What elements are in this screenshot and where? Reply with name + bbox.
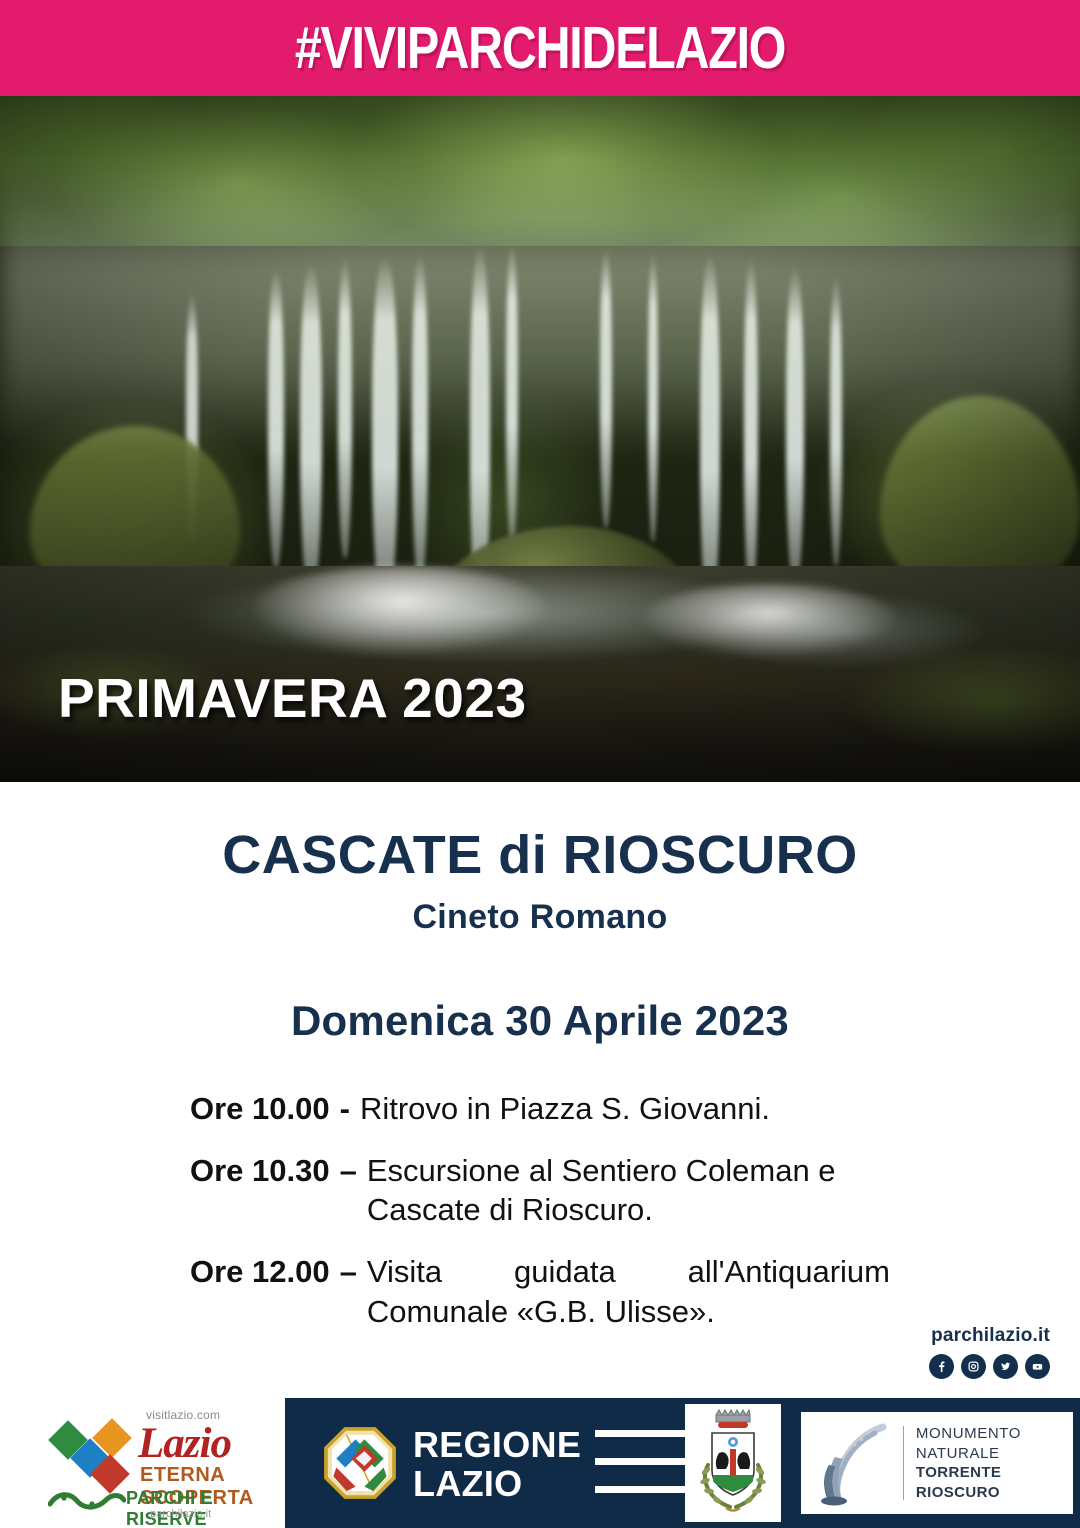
program-description: Visita guidata all'Antiquarium Comunale …	[367, 1252, 890, 1331]
event-poster: #VIVIPARCHIDELAZIO PRIMAVERA 2023 CASCAT…	[0, 0, 1080, 1528]
lazio-wordmark: Lazio	[138, 1419, 231, 1468]
monumento-line3: TORRENTE RIOSCURO	[916, 1463, 1073, 1502]
monumento-text: MONUMENTO NATURALE TORRENTE RIOSCURO	[916, 1424, 1073, 1502]
hashtag-text: #VIVIPARCHIDELAZIO	[295, 14, 785, 82]
twitter-icon[interactable]	[993, 1354, 1018, 1379]
monumento-line1: MONUMENTO	[916, 1424, 1073, 1444]
waterfall-stream-icon	[807, 1419, 899, 1507]
facebook-icon[interactable]	[929, 1354, 954, 1379]
website-url[interactable]: parchilazio.it	[820, 1325, 1050, 1347]
program-time: Ore 12.00	[190, 1252, 340, 1292]
program-row: Ore 10.30 – Escursione al Sentiero Colem…	[190, 1151, 890, 1230]
program-time: Ore 10.30	[190, 1151, 340, 1191]
lazio-eterna-scoperta-logo: visitlazio.com Lazio ETERNA SCOPERTA PAR…	[38, 1404, 273, 1522]
program-time: Ore 10.00	[190, 1089, 340, 1129]
program-separator: –	[340, 1252, 367, 1292]
divider-bars	[595, 1428, 691, 1498]
logo-divider	[903, 1426, 904, 1500]
event-location: Cineto Romano	[0, 898, 1080, 937]
regione-lazio-emblem-icon	[323, 1426, 397, 1500]
comune-emblem-box	[685, 1404, 781, 1522]
footer-logo-bar: visitlazio.com Lazio ETERNA SCOPERTA PAR…	[0, 1398, 1080, 1528]
program-description: Escursione al Sentiero Coleman e Cascate…	[367, 1151, 890, 1230]
program-list: Ore 10.00 - Ritrovo in Piazza S. Giovann…	[190, 1089, 890, 1331]
monumento-line2: NATURALE	[916, 1444, 1073, 1464]
web-social-block: parchilazio.it	[820, 1325, 1050, 1379]
event-details: CASCATE di RIOSCURO Cineto Romano Domeni…	[0, 782, 1080, 1398]
regione-lazio-wordmark: REGIONE LAZIO	[413, 1426, 581, 1504]
program-description: Ritrovo in Piazza S. Giovanni.	[360, 1089, 890, 1129]
program-row: Ore 12.00 – Visita guidata all'Antiquari…	[190, 1252, 890, 1331]
season-label: PRIMAVERA 2023	[58, 666, 527, 730]
monumento-naturale-logo: MONUMENTO NATURALE TORRENTE RIOSCURO	[801, 1412, 1073, 1514]
event-date: Domenica 30 Aprile 2023	[0, 997, 1080, 1045]
social-icons	[820, 1354, 1050, 1379]
instagram-icon[interactable]	[961, 1354, 986, 1379]
lazio-logo-url: parchilazio.it	[150, 1508, 211, 1520]
hashtag-banner: #VIVIPARCHIDELAZIO	[0, 0, 1080, 96]
youtube-icon[interactable]	[1025, 1354, 1050, 1379]
cineto-romano-coat-of-arms-icon	[692, 1409, 774, 1517]
regione-line1: REGIONE	[413, 1426, 581, 1465]
lazio-tiles-icon	[54, 1420, 134, 1492]
hero-waterfall-photo: PRIMAVERA 2023	[0, 96, 1080, 782]
regione-line2: LAZIO	[413, 1465, 581, 1504]
program-separator: –	[340, 1151, 367, 1191]
event-title: CASCATE di RIOSCURO	[0, 824, 1080, 886]
program-row: Ore 10.00 - Ritrovo in Piazza S. Giovann…	[190, 1089, 890, 1129]
program-separator: -	[340, 1089, 360, 1129]
institutional-bar: REGIONE LAZIO	[285, 1398, 1080, 1528]
lazio-wave-icon	[48, 1488, 126, 1510]
